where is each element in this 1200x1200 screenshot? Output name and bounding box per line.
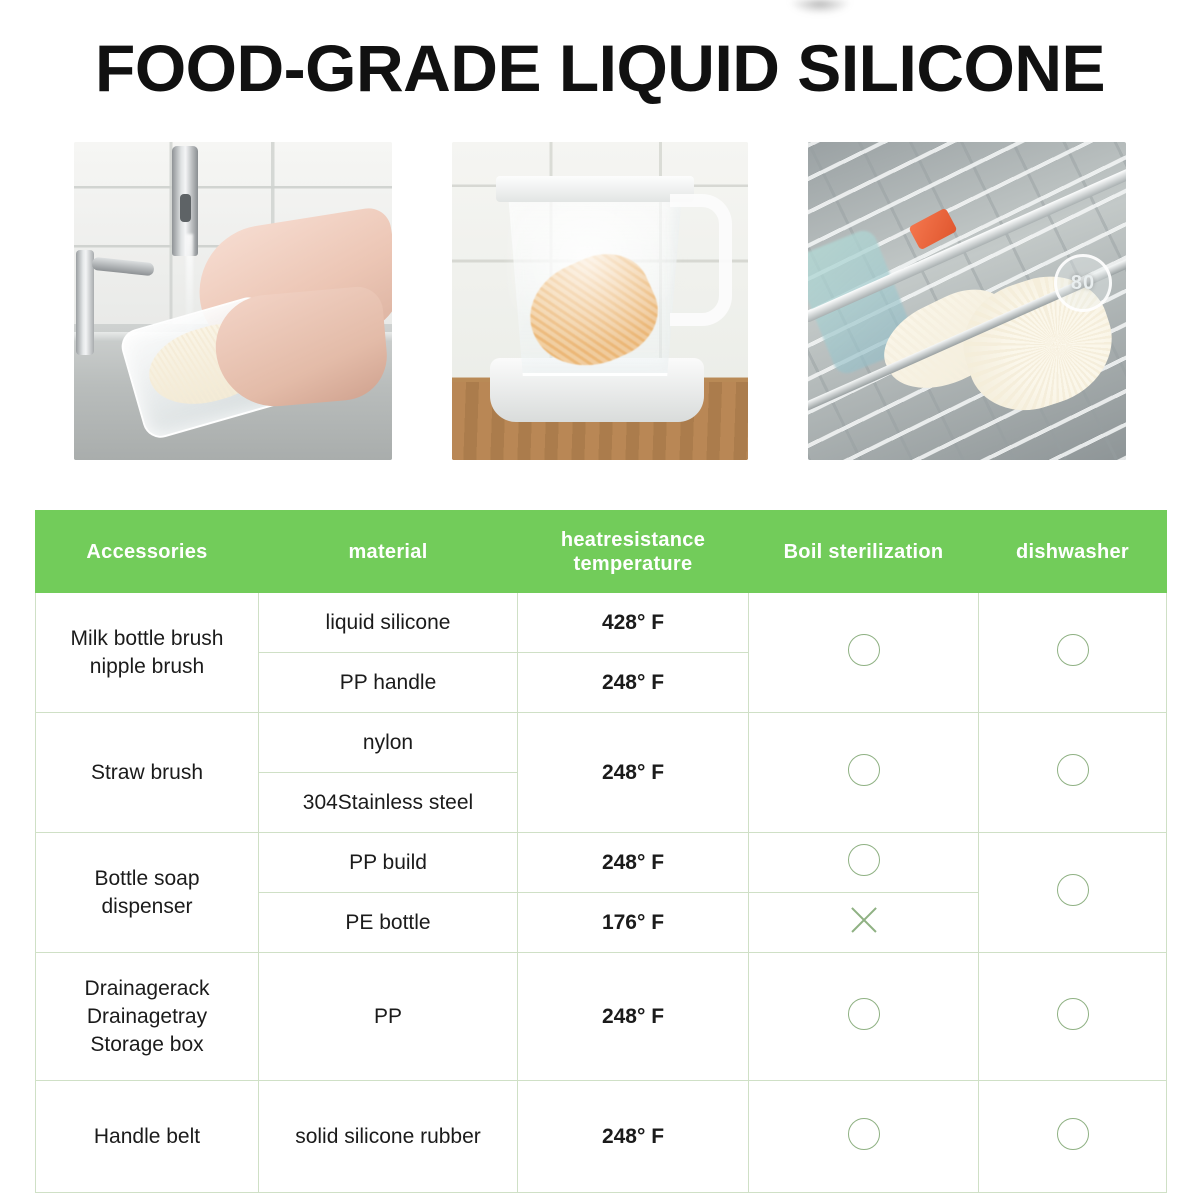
material-liquid-silicone: liquid silicone	[259, 593, 518, 653]
boil-mark-milk-bottle-brush	[749, 593, 979, 713]
material-pp-build: PP build	[259, 833, 518, 893]
dishwasher-mark-bottle-soap-dispenser	[979, 833, 1167, 953]
circle-icon	[848, 1118, 880, 1150]
boil-mark-pe-bottle	[749, 893, 979, 953]
column-header-dishwasher: dishwasher	[979, 511, 1167, 593]
material-pp: PP	[259, 953, 518, 1081]
accessory-line1: Handle belt	[36, 1123, 258, 1151]
column-header-accessories: Accessories	[36, 511, 259, 593]
heat-header-line1: heatresistance	[524, 528, 742, 552]
boil-mark-drainage-rack	[749, 953, 979, 1081]
accessory-line1: Milk bottle brush	[36, 625, 258, 653]
temperature-straw-brush: 248° F	[518, 713, 749, 833]
table-row: Straw brush nylon 248° F	[36, 713, 1167, 773]
table-row: Drainagerack Drainagetray Storage box PP…	[36, 953, 1167, 1081]
boil-mark-straw-brush	[749, 713, 979, 833]
steam-haze	[508, 200, 684, 350]
temperature-liquid-silicone: 428° F	[518, 593, 749, 653]
accessory-line1: Bottle soap	[36, 865, 258, 893]
circle-icon	[848, 754, 880, 786]
column-header-boil-sterilization: Boil sterilization	[749, 511, 979, 593]
top-edge-artifact	[790, 0, 850, 14]
temperature-pp-build: 248° F	[518, 833, 749, 893]
temperature-pp: 248° F	[518, 953, 749, 1081]
accessory-line2: Drainagetray	[36, 1003, 258, 1031]
cross-icon	[847, 903, 881, 937]
accessory-drainage-rack: Drainagerack Drainagetray Storage box	[36, 953, 259, 1081]
material-pe-bottle: PE bottle	[259, 893, 518, 953]
photo-washing-brush-in-sink	[74, 142, 392, 460]
column-header-heat-resistance-temperature: heatresistance temperature	[518, 511, 749, 593]
material-304-stainless-steel: 304Stainless steel	[259, 773, 518, 833]
temperature-dial: 80	[1054, 254, 1112, 312]
accessory-milk-bottle-brush: Milk bottle brush nipple brush	[36, 593, 259, 713]
accessory-straw-brush: Straw brush	[36, 713, 259, 833]
kettle-lid	[496, 176, 694, 202]
circle-icon	[848, 998, 880, 1030]
circle-icon	[1057, 874, 1089, 906]
circle-icon	[1057, 634, 1089, 666]
photo-brush-boiling-in-glass-kettle	[452, 142, 748, 460]
circle-icon	[1057, 1118, 1089, 1150]
accessory-line1: Drainagerack	[36, 975, 258, 1003]
accessory-line2: nipple brush	[36, 653, 258, 681]
accessory-line3: Storage box	[36, 1031, 258, 1059]
accessory-handle-belt: Handle belt	[36, 1081, 259, 1193]
specification-table-container: Accessories material heatresistance temp…	[35, 510, 1166, 1193]
page-title: FOOD-GRADE LIQUID SILICONE	[0, 26, 1200, 110]
specification-table: Accessories material heatresistance temp…	[35, 510, 1167, 1193]
heat-header-line2: temperature	[524, 552, 742, 576]
table-row: Milk bottle brush nipple brush liquid si…	[36, 593, 1167, 653]
circle-icon	[1057, 754, 1089, 786]
material-nylon: nylon	[259, 713, 518, 773]
dishwasher-mark-drainage-rack	[979, 953, 1167, 1081]
circle-icon	[1057, 998, 1089, 1030]
kettle-handle	[670, 194, 732, 326]
photo-brushes-on-dishwasher-rack: 80	[808, 142, 1126, 460]
table-row: Handle belt solid silicone rubber 248° F	[36, 1081, 1167, 1193]
accessory-line2: dispenser	[36, 893, 258, 921]
table-header-row: Accessories material heatresistance temp…	[36, 511, 1167, 593]
temperature-handle-belt: 248° F	[518, 1081, 749, 1193]
dishwasher-mark-milk-bottle-brush	[979, 593, 1167, 713]
temperature-pp-handle: 248° F	[518, 653, 749, 713]
faucet-head-icon	[172, 146, 198, 256]
material-pp-handle: PP handle	[259, 653, 518, 713]
dishwasher-mark-straw-brush	[979, 713, 1167, 833]
table-row: Bottle soap dispenser PP build 248° F	[36, 833, 1167, 893]
boil-mark-handle-belt	[749, 1081, 979, 1193]
hand-lower	[211, 285, 390, 411]
temperature-pe-bottle: 176° F	[518, 893, 749, 953]
dishwasher-mark-handle-belt	[979, 1081, 1167, 1193]
accessory-bottle-soap-dispenser: Bottle soap dispenser	[36, 833, 259, 953]
circle-icon	[848, 634, 880, 666]
circle-icon	[848, 844, 880, 876]
column-header-material: material	[259, 511, 518, 593]
accessory-line1: Straw brush	[36, 759, 258, 787]
boil-mark-pp-build	[749, 833, 979, 893]
material-solid-silicone-rubber: solid silicone rubber	[259, 1081, 518, 1193]
product-photo-strip: 80	[0, 142, 1200, 460]
